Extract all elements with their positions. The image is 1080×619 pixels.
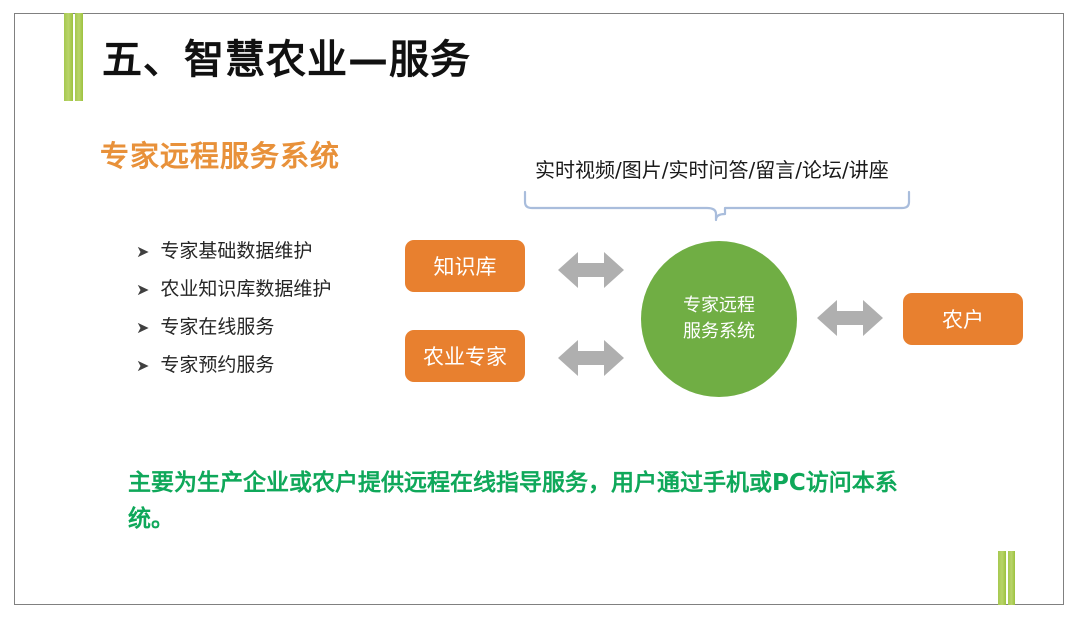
- summary-note: 主要为生产企业或农户提供远程在线指导服务，用户通过手机或PC访问本系统。: [128, 466, 928, 537]
- diagram-top-caption: 实时视频/图片/实时问答/留言/论坛/讲座: [535, 154, 889, 183]
- accent-bar-segment: [64, 13, 73, 101]
- list-item: ➤ 专家在线服务: [136, 312, 406, 339]
- arrow-bullet-icon: ➤: [136, 358, 149, 374]
- circle-label-line2: 服务系统: [683, 319, 755, 345]
- curly-brace-icon: [522, 190, 912, 222]
- accent-bar-segment: [75, 13, 84, 101]
- list-item: ➤ 农业知识库数据维护: [136, 274, 406, 301]
- circle-expert-remote-service-system[interactable]: 专家远程 服务系统: [641, 241, 797, 397]
- box-knowledge-base[interactable]: 知识库: [405, 240, 525, 292]
- box-knowledge-base-label: 知识库: [434, 251, 497, 281]
- list-item-label: 专家在线服务: [160, 312, 274, 339]
- list-item: ➤ 专家基础数据维护: [136, 236, 406, 263]
- accent-bar-bottom-right: [998, 551, 1015, 605]
- accent-bar-top-left: [64, 13, 83, 101]
- box-farmer[interactable]: 农户: [903, 293, 1023, 345]
- box-agri-expert[interactable]: 农业专家: [405, 330, 525, 382]
- list-item-label: 专家预约服务: [160, 350, 274, 377]
- arrow-bullet-icon: ➤: [136, 244, 149, 260]
- bullet-list: ➤ 专家基础数据维护 ➤ 农业知识库数据维护 ➤ 专家在线服务 ➤ 专家预约服务: [136, 236, 406, 388]
- section-subtitle: 专家远程服务系统: [100, 133, 340, 175]
- box-farmer-label: 农户: [942, 304, 984, 334]
- page-title: 五、智慧农业—服务: [102, 27, 471, 85]
- circle-label-line1: 专家远程: [683, 293, 755, 319]
- arrow-bullet-icon: ➤: [136, 320, 149, 336]
- accent-bar-segment: [998, 551, 1006, 605]
- list-item-label: 专家基础数据维护: [160, 236, 312, 263]
- slide-canvas: 五、智慧农业—服务 专家远程服务系统 ➤ 专家基础数据维护 ➤ 农业知识库数据维…: [0, 0, 1080, 619]
- double-arrow-icon: [556, 246, 626, 294]
- double-arrow-icon: [556, 334, 626, 382]
- double-arrow-icon: [815, 294, 885, 342]
- accent-bar-segment: [1008, 551, 1016, 605]
- list-item-label: 农业知识库数据维护: [160, 274, 331, 301]
- list-item: ➤ 专家预约服务: [136, 350, 406, 377]
- arrow-bullet-icon: ➤: [136, 282, 149, 298]
- box-agri-expert-label: 农业专家: [423, 341, 507, 371]
